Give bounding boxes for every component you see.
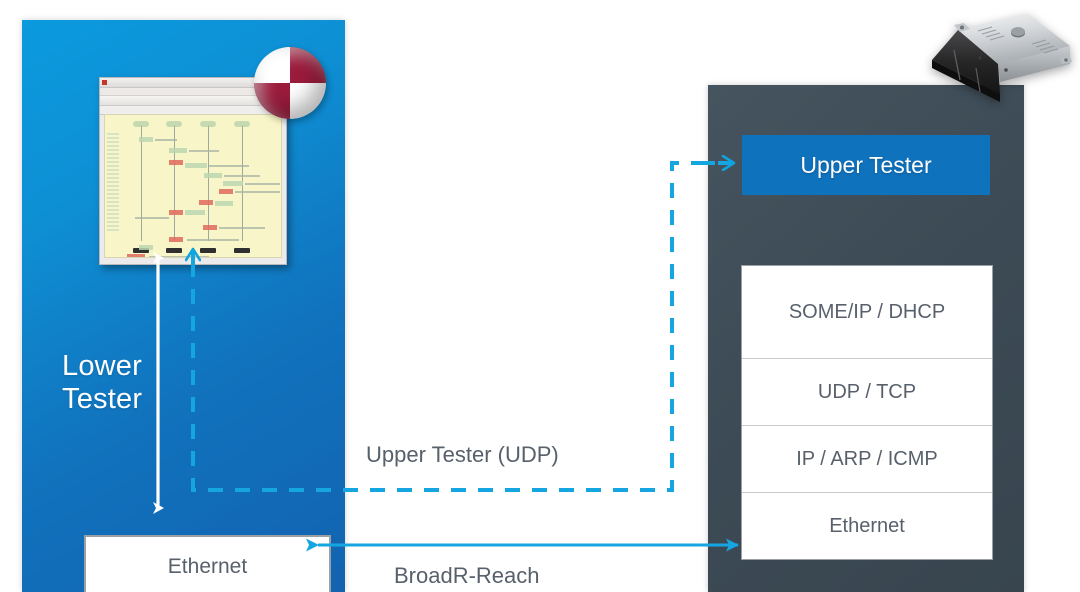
lower-tester-panel: Lower Tester Ethernet <box>22 20 345 592</box>
checkered-sphere-logo-icon <box>254 47 326 119</box>
trace-message-text <box>187 239 239 241</box>
stack-row: IP / ARP / ICMP <box>742 425 992 492</box>
trace-message-text <box>224 175 260 177</box>
trace-message-text <box>219 227 265 229</box>
trace-message <box>215 201 233 206</box>
trace-message-text <box>155 139 177 141</box>
upper-tester-label: Upper Tester <box>800 152 931 179</box>
stack-row-label: UDP / TCP <box>818 381 916 404</box>
trace-lifeline <box>208 125 209 241</box>
trace-lifeline <box>141 125 142 241</box>
stack-row-label: IP / ARP / ICMP <box>796 448 938 471</box>
trace-message-error <box>169 210 183 215</box>
trace-message-text <box>235 191 280 193</box>
trace-lifeline-foot <box>200 248 216 253</box>
upper-tester-udp-link-label: Upper Tester (UDP) <box>366 442 559 468</box>
trace-message <box>185 163 207 168</box>
trace-lifeline-head <box>166 121 182 127</box>
trace-message-text <box>209 165 249 167</box>
upper-tester-box[interactable]: Upper Tester <box>742 135 990 195</box>
trace-message <box>204 173 222 178</box>
trace-lifeline-head <box>133 121 149 127</box>
stack-row: SOME/IP / DHCP <box>742 266 992 358</box>
ecu-hardware-photo <box>920 6 1072 106</box>
trace-lifeline-head <box>234 121 250 127</box>
diagram-canvas: Lower Tester Ethernet <box>0 0 1080 592</box>
sequence-trace-window[interactable] <box>99 77 287 265</box>
trace-message-error <box>169 237 183 242</box>
trace-message <box>139 137 153 142</box>
stack-row-label: SOME/IP / DHCP <box>789 301 945 324</box>
trace-message-text <box>189 150 219 152</box>
broadr-reach-link-label: BroadR-Reach <box>394 563 540 589</box>
stack-row-label: Ethernet <box>829 515 905 538</box>
trace-message-text <box>149 256 209 258</box>
trace-message <box>139 245 153 250</box>
trace-message <box>185 210 205 215</box>
trace-line-gutter <box>107 133 119 233</box>
lower-tester-ethernet-box: Ethernet <box>84 535 331 592</box>
trace-message-error <box>169 160 183 165</box>
trace-lifeline-foot <box>234 248 250 253</box>
trace-message-text <box>245 183 280 185</box>
stack-row: UDP / TCP <box>742 358 992 425</box>
trace-message-error <box>127 254 145 258</box>
lower-tester-ethernet-label: Ethernet <box>168 555 247 579</box>
trace-lifeline-head <box>200 121 216 127</box>
trace-message-text <box>135 217 169 219</box>
trace-window-canvas <box>104 114 282 258</box>
lower-tester-label: Lower Tester <box>62 350 142 416</box>
stack-row: Ethernet <box>742 492 992 559</box>
trace-message <box>169 148 187 153</box>
trace-lifeline <box>174 125 175 241</box>
protocol-stack: SOME/IP / DHCPUDP / TCPIP / ARP / ICMPEt… <box>741 265 993 560</box>
trace-message <box>223 181 243 186</box>
trace-message-error <box>199 200 213 205</box>
trace-message-error <box>203 225 217 230</box>
trace-message-error <box>219 189 233 194</box>
trace-lifeline-foot <box>166 248 182 253</box>
